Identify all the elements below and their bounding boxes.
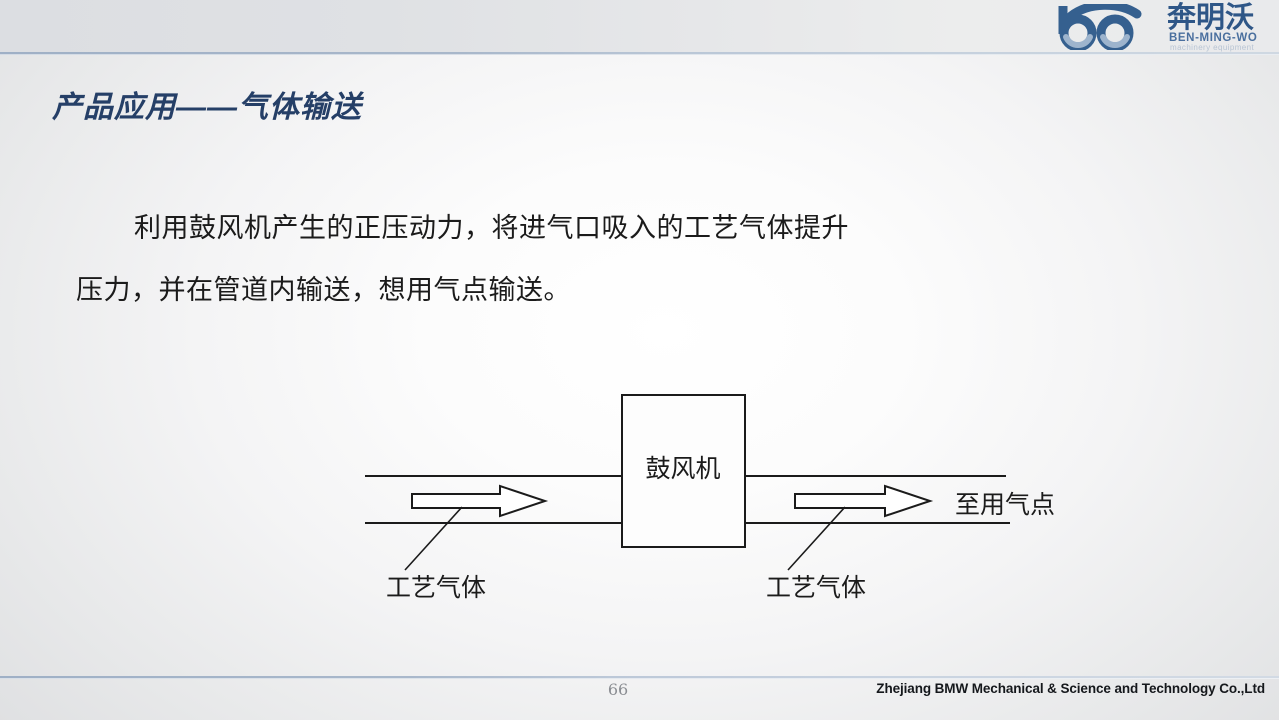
footer-company-name: Zhejiang BMW Mechanical & Science and Te… <box>876 681 1265 696</box>
body-line-1-text: 利用鼓风机产生的正压动力，将进气口吸入的工艺气体提升 <box>134 213 849 244</box>
page-number: 66 <box>598 680 638 699</box>
header-divider-rule <box>0 52 1279 55</box>
body-paragraph-line-2: 压力，并在管道内输送，想用气点输送。 <box>76 260 1076 322</box>
logo-tagline: machinery equipment <box>1170 43 1254 52</box>
blower-box <box>622 395 745 547</box>
bo-monogram-logo-icon <box>1057 4 1165 50</box>
leader-line-inlet <box>405 507 462 570</box>
company-logo: 奔明沃 BEN-MING-WO machinery equipment <box>1055 2 1273 52</box>
flow-arrow-inlet <box>412 486 545 516</box>
blower-box-label: 鼓风机 <box>645 454 720 483</box>
leader-line-outlet <box>788 507 845 570</box>
logo-chinese-name: 奔明沃 <box>1167 3 1254 33</box>
inlet-label: 工艺气体 <box>386 573 486 602</box>
slide-canvas: 奔明沃 BEN-MING-WO machinery equipment 产品应用… <box>0 0 1279 720</box>
body-line-2-text: 压力，并在管道内输送，想用气点输送。 <box>76 275 571 306</box>
body-paragraph-line-1: 利用鼓风机产生的正压动力，将进气口吸入的工艺气体提升 <box>76 198 1076 260</box>
footer-divider-rule <box>0 676 1279 679</box>
destination-label: 至用气点 <box>955 490 1055 519</box>
outlet-label: 工艺气体 <box>766 573 866 602</box>
flow-arrow-outlet <box>795 486 930 516</box>
page-title: 产品应用——气体输送 <box>52 82 362 126</box>
body-paragraph: 利用鼓风机产生的正压动力，将进气口吸入的工艺气体提升 压力，并在管道内输送，想用… <box>76 198 1076 322</box>
